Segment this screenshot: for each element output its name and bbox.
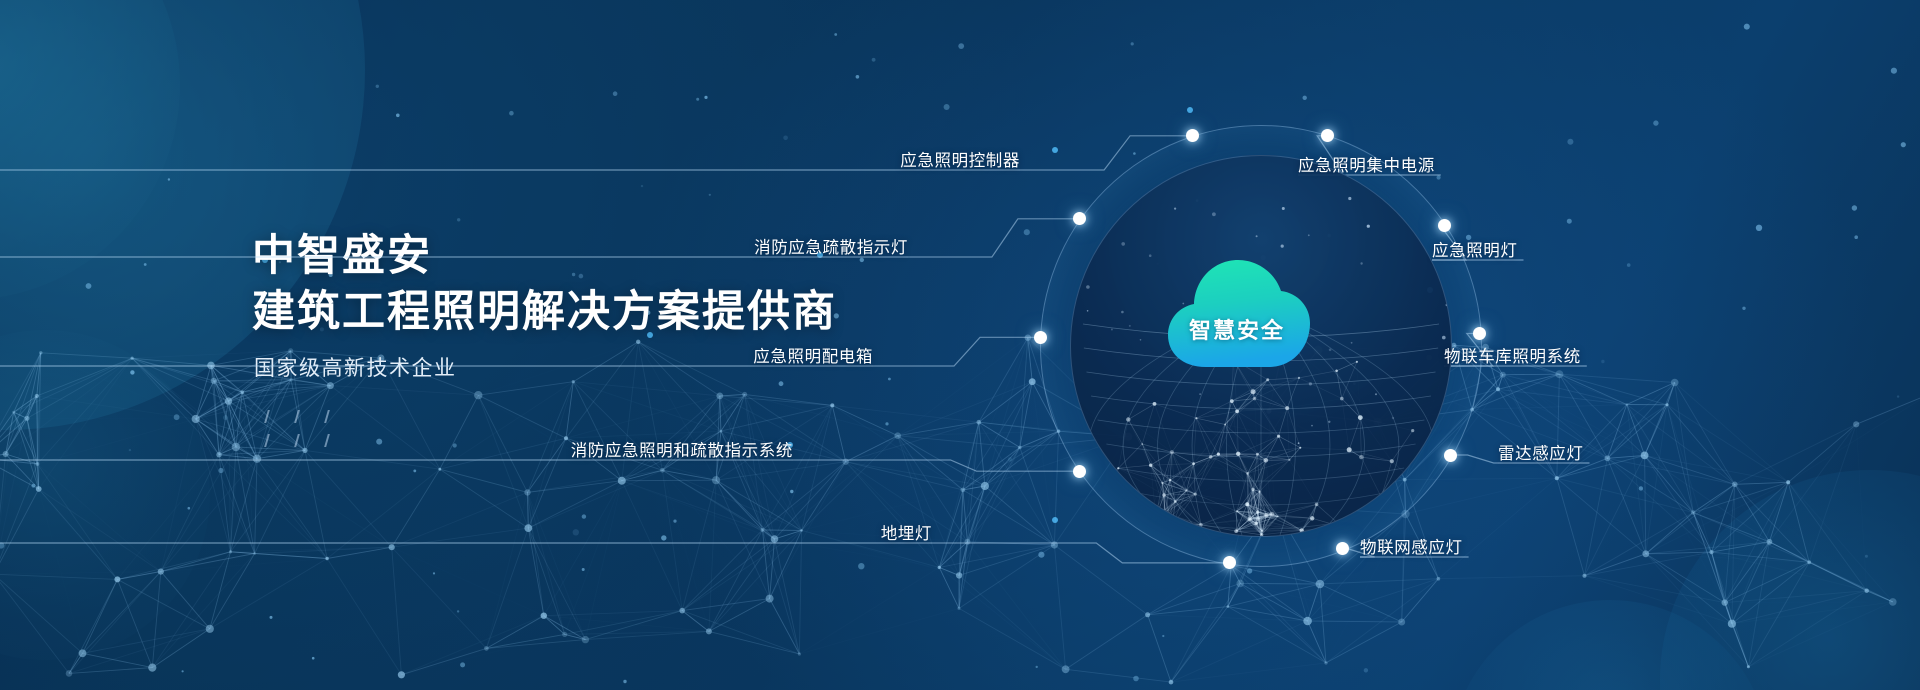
node-dot-radar-lamp[interactable] [1444, 449, 1457, 462]
node-label-evac-system[interactable]: 消防应急照明和疏散指示系统 [0, 437, 793, 461]
node-label-controller[interactable]: 应急照明控制器 [0, 147, 1020, 171]
node-label-evac-sign[interactable]: 消防应急疏散指示灯 [0, 234, 908, 258]
orbital-diagram: 智慧安全 [1040, 125, 1480, 565]
node-label-distribution-box[interactable]: 应急照明配电箱 [0, 343, 873, 367]
node-label-central-power[interactable]: 应急照明集中电源 [1298, 152, 1435, 176]
node-dot-evac-system[interactable] [1073, 465, 1086, 478]
hero-banner: 中智盛安 建筑工程照明解决方案提供商 国家级高新技术企业 [0, 0, 1920, 690]
tick-mark [254, 410, 270, 423]
tick-mark [284, 410, 300, 423]
node-dot-emergency-lamp[interactable] [1438, 219, 1451, 232]
node-dot-controller[interactable] [1186, 129, 1199, 142]
node-label-radar-lamp[interactable]: 雷达感应灯 [1498, 440, 1584, 464]
node-label-iot-sensor-lamp[interactable]: 物联网感应灯 [1360, 534, 1463, 558]
node-dot-distribution-box[interactable] [1034, 331, 1047, 344]
node-label-garage-system[interactable]: 物联车库照明系统 [1444, 343, 1581, 367]
headline-tagline: 建筑工程照明解决方案提供商 [252, 284, 952, 340]
cloud-shape: 智慧安全 [1162, 243, 1312, 373]
tick-mark [314, 410, 330, 423]
cloud-label: 智慧安全 [1162, 313, 1312, 345]
network-mesh-background [0, 330, 1920, 690]
node-label-buried-lamp[interactable]: 地埋灯 [0, 520, 932, 544]
node-label-emergency-lamp[interactable]: 应急照明灯 [1432, 237, 1518, 261]
